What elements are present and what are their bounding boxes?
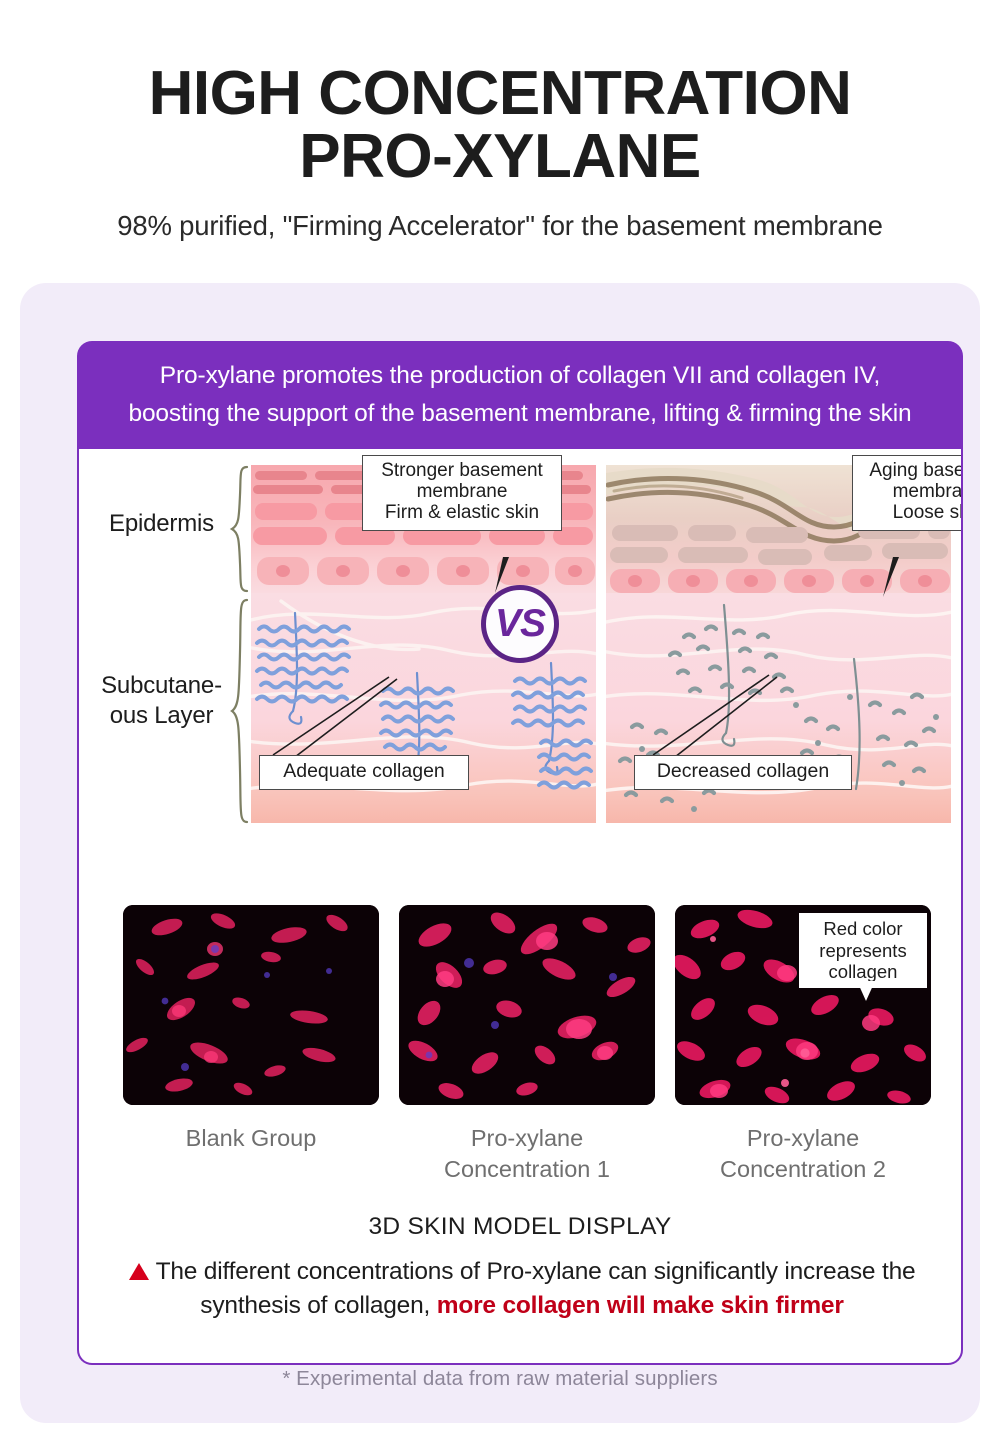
callout-aging-line-3: Loose skin [857, 503, 963, 524]
conclusion-text: The different concentrations of Pro-xyla… [101, 1255, 943, 1323]
content-card: Pro-xylane promotes the production of co… [20, 283, 980, 1423]
conclusion-emphasis: more collagen will make skin firmer [437, 1292, 844, 1319]
microscopy-caption-conc1-line-2: Concentration 1 [399, 1154, 655, 1184]
callout-aging-membrane: Aging basement membrane Loose skin [852, 455, 963, 531]
callout-bubble-tail-icon [857, 981, 875, 1001]
microscopy-row: Blank Group [123, 905, 929, 1183]
microscopy-caption-blank-line-1: Blank Group [123, 1123, 379, 1153]
label-subcutaneous-line-1: Subcutane- [79, 671, 244, 700]
callout-stronger-line-3: Firm & elastic skin [367, 503, 557, 524]
callout-stronger-membrane: Stronger basement membrane Firm & elasti… [362, 455, 562, 531]
claim-banner-line-1: Pro-xylane promotes the production of co… [95, 357, 945, 394]
model-display-title: 3D SKIN MODEL DISPLAY [79, 1213, 961, 1241]
microscopy-image-blank [123, 905, 379, 1105]
microscopy-caption-blank: Blank Group [123, 1123, 379, 1153]
callout-red-color-collagen: Red color represents collagen [799, 913, 927, 987]
callout-aging-line-2: membrane [857, 482, 963, 503]
microscopy-caption-conc1: Pro-xylane Concentration 1 [399, 1123, 655, 1183]
skin-comparison-diagram: Epidermis Subcutane- ous Layer [79, 443, 961, 883]
content-panel: Epidermis Subcutane- ous Layer [77, 443, 963, 1365]
brace-subcutaneous-icon [229, 598, 251, 824]
fluorescence-cells-blank-icon [123, 905, 379, 1105]
callout-stronger-line-2: membrane [367, 482, 557, 503]
footnote: * Experimental data from raw material su… [20, 1367, 980, 1391]
callout-stronger-line-1: Stronger basement [367, 461, 557, 482]
claim-banner: Pro-xylane promotes the production of co… [77, 341, 963, 448]
callout-red-color-line-3: collagen [802, 961, 924, 982]
skin-layer-labels: Epidermis Subcutane- ous Layer [79, 443, 244, 843]
callout-adequate-collagen: Adequate collagen [259, 755, 469, 789]
callout-red-color-line-2: represents [802, 940, 924, 961]
microscopy-cell-conc1: Pro-xylane Concentration 1 [399, 905, 655, 1183]
page-title: HIGH CONCENTRATION PRO-XYLANE [0, 62, 1000, 188]
callout-decreased-collagen: Decreased collagen [634, 755, 852, 789]
microscopy-image-conc2: Red color represents collagen [675, 905, 931, 1105]
callout-aging-line-1: Aging basement [857, 461, 963, 482]
microscopy-caption-conc1-line-1: Pro-xylane [399, 1123, 655, 1153]
microscopy-cell-blank: Blank Group [123, 905, 379, 1183]
fluorescence-cells-conc1-icon [399, 905, 655, 1105]
triangle-bullet-icon [129, 1263, 149, 1280]
label-subcutaneous-line-2: ous Layer [79, 701, 244, 730]
microscopy-caption-conc2: Pro-xylane Concentration 2 [675, 1123, 931, 1183]
microscopy-image-conc1 [399, 905, 655, 1105]
microscopy-cell-conc2: Red color represents collagen Pro-xylane… [675, 905, 931, 1183]
title-line-2: PRO-XYLANE [0, 125, 1000, 188]
callout-red-color-line-1: Red color [802, 918, 924, 939]
claim-banner-line-2: boosting the support of the basement mem… [95, 395, 945, 432]
title-line-1: HIGH CONCENTRATION [0, 62, 1000, 125]
microscopy-caption-conc2-line-2: Concentration 2 [675, 1154, 931, 1184]
page-header: HIGH CONCENTRATION PRO-XYLANE 98% purifi… [0, 0, 1000, 242]
label-subcutaneous: Subcutane- ous Layer [79, 671, 244, 730]
microscopy-caption-conc2-line-1: Pro-xylane [675, 1123, 931, 1153]
brace-epidermis-icon [229, 465, 251, 593]
page-subtitle: 98% purified, "Firming Accelerator" for … [0, 210, 1000, 242]
label-epidermis: Epidermis [79, 509, 244, 538]
vs-badge: VS [481, 585, 559, 663]
